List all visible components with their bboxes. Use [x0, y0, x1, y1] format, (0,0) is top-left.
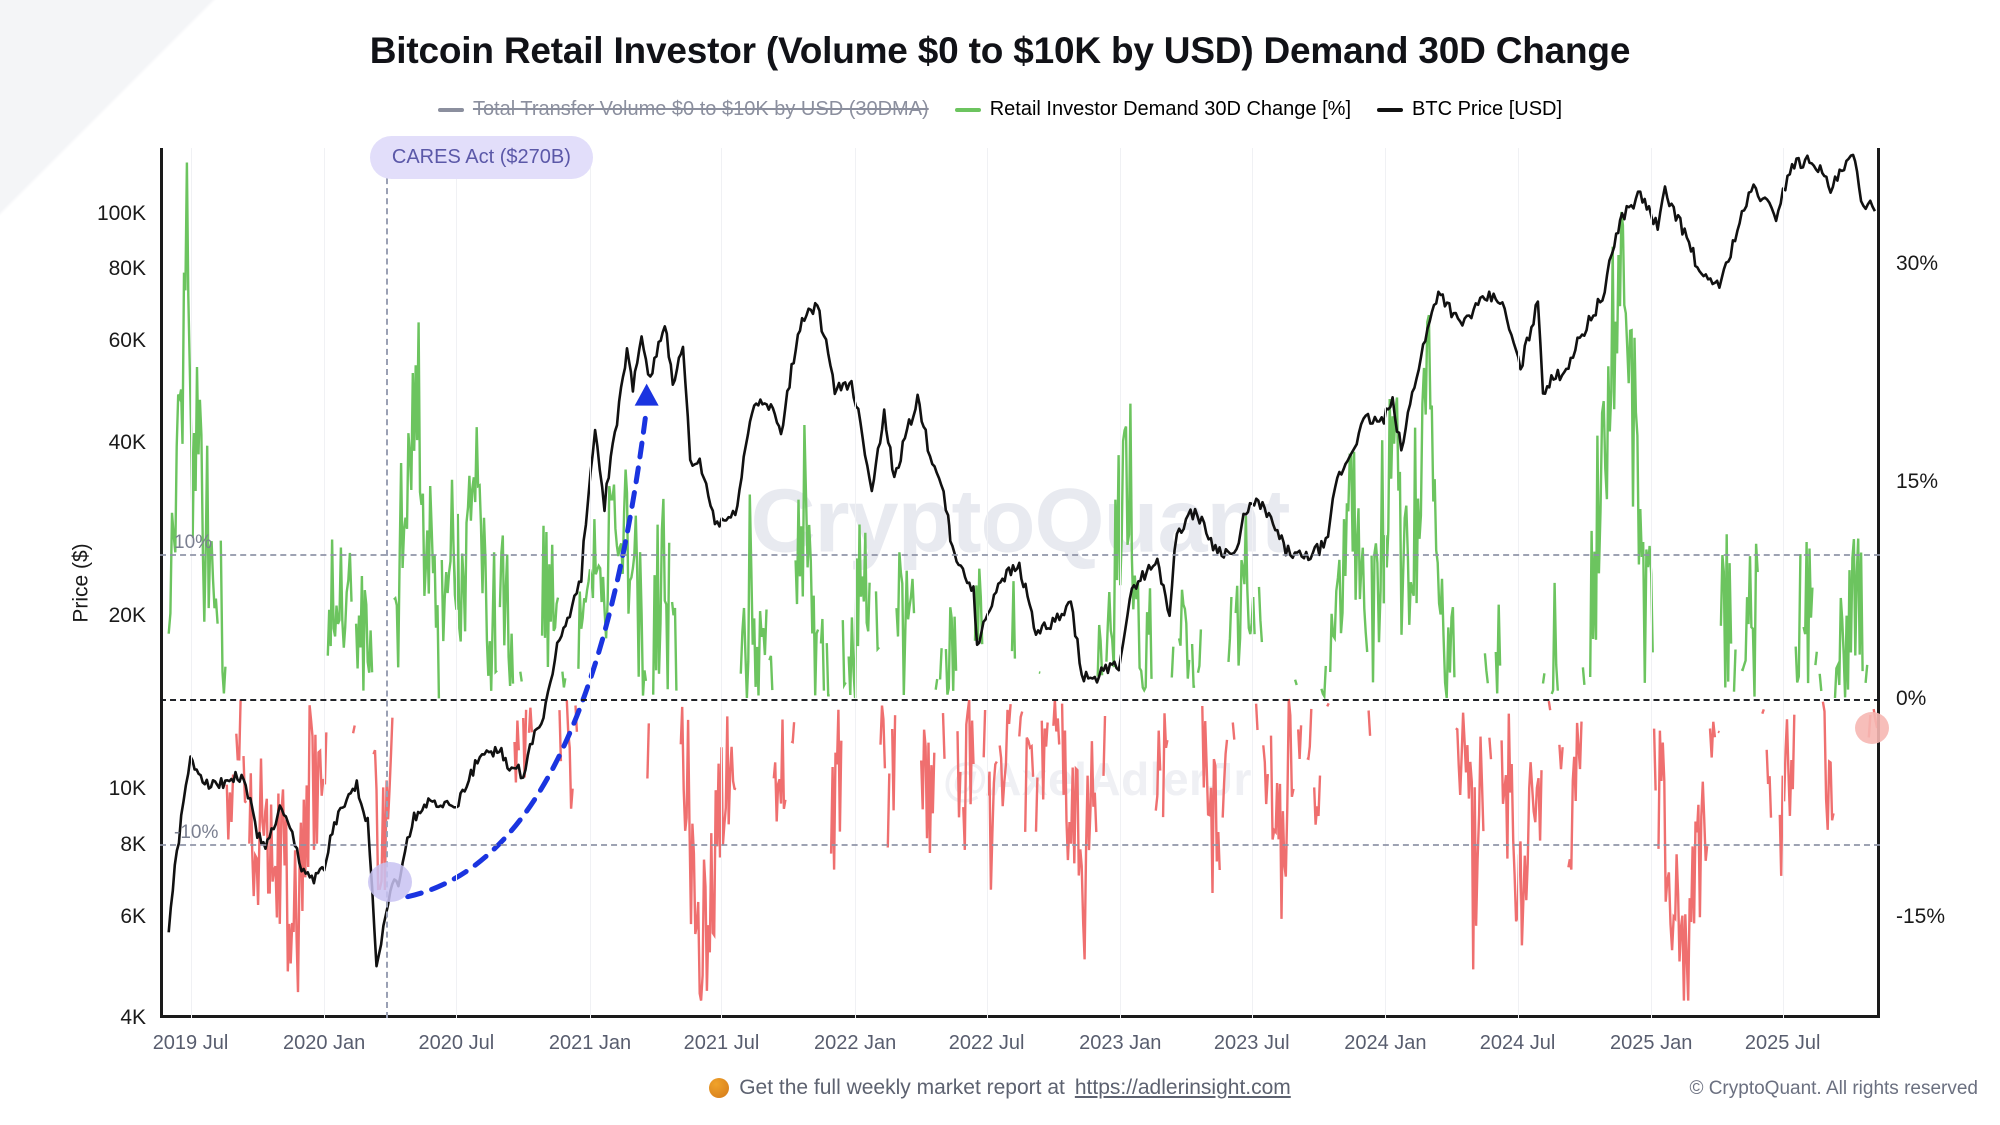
- demand-positive-segment-43: [1543, 673, 1544, 683]
- demand-negative-segment-28: [1025, 738, 1033, 832]
- x-tick-1: 2020 Jan: [283, 1032, 365, 1055]
- y-tick-right-0: 30%: [1896, 252, 1938, 276]
- demand-negative-segment-30: [1042, 721, 1048, 800]
- demand-positive-segment-2: [328, 540, 352, 656]
- y-tick-left-2: 60K: [109, 329, 146, 353]
- demand-negative-segment-1: [236, 700, 240, 760]
- demand-positive-segment-31: [1179, 590, 1189, 679]
- x-gridline-11: [1651, 148, 1652, 1018]
- trend-arrow-curve: [408, 408, 647, 897]
- y-tick-left-0: 100K: [97, 202, 146, 226]
- demand-positive-segment-12: [672, 602, 676, 691]
- right-axis-line: [1877, 148, 1880, 1018]
- demand-negative-segment-32: [1062, 704, 1096, 960]
- demand-positive-segment-30: [1172, 647, 1174, 678]
- reference-line-0: [160, 554, 1880, 556]
- demand-positive-segment-48: [1734, 650, 1736, 692]
- demand-negative-segment-44: [1314, 776, 1320, 825]
- demand-negative-segment-18: [888, 774, 890, 848]
- demand-negative-segment-38: [1233, 723, 1235, 740]
- x-gridline-0: [191, 148, 192, 1018]
- demand-negative-segment-57: [1762, 709, 1764, 713]
- demand-negative-segment-49: [1502, 714, 1542, 946]
- demand-negative-segment-0: [227, 775, 233, 840]
- demand-positive-segment-0: [169, 163, 218, 634]
- reference-line-label-2: -10%: [168, 822, 218, 844]
- x-tick-4: 2021 Jul: [684, 1032, 760, 1055]
- demand-positive-segment-16: [821, 619, 824, 691]
- footer-text: Get the full weekly market report at: [739, 1076, 1065, 1100]
- x-gridline-1: [324, 148, 325, 1018]
- demand-negative-segment-43: [1307, 709, 1311, 759]
- x-gridline-6: [987, 148, 988, 1018]
- x-gridline-10: [1518, 148, 1519, 1018]
- latest-value-dot: [1855, 712, 1889, 744]
- demand-negative-segment-37: [1223, 740, 1227, 818]
- demand-negative-segment-23: [963, 700, 973, 850]
- demand-negative-segment-50: [1549, 701, 1550, 710]
- y-tick-left-1: 80K: [109, 257, 146, 281]
- demand-negative-segment-60: [1823, 702, 1834, 830]
- demand-negative-segment-14: [774, 720, 786, 822]
- demand-negative-segment-52: [1568, 722, 1581, 870]
- demand-negative-segment-21: [943, 713, 945, 759]
- copyright-text: © CryptoQuant. All rights reserved: [1689, 1078, 1978, 1100]
- demand-negative-segment-13: [681, 707, 736, 1001]
- demand-negative-segment-19: [892, 715, 895, 810]
- legend-item-0[interactable]: Total Transfer Volume $0 to $10K by USD …: [438, 98, 929, 121]
- event-annotation-badge[interactable]: CARES Act ($270B): [370, 136, 593, 179]
- demand-positive-segment-53: [1820, 674, 1822, 691]
- demand-positive-segment-38: [1321, 666, 1325, 696]
- demand-negative-segment-12: [647, 723, 648, 778]
- demand-negative-segment-48: [1489, 738, 1491, 760]
- legend-item-2[interactable]: BTC Price [USD]: [1377, 98, 1562, 121]
- x-tick-11: 2025 Jan: [1610, 1032, 1692, 1055]
- demand-positive-segment-22: [936, 679, 938, 690]
- demand-negative-segment-17: [881, 706, 885, 769]
- legend-swatch-icon: [955, 108, 981, 112]
- trend-arrow-head: [635, 384, 659, 406]
- demand-negative-segment-22: [958, 731, 961, 817]
- x-tick-0: 2019 Jul: [153, 1032, 229, 1055]
- reference-line-1: [160, 699, 1880, 701]
- legend-label: BTC Price [USD]: [1412, 98, 1562, 121]
- legend-label: Total Transfer Volume $0 to $10K by USD …: [473, 98, 929, 121]
- x-tick-9: 2024 Jan: [1344, 1032, 1426, 1055]
- x-tick-12: 2025 Jul: [1745, 1032, 1821, 1055]
- left-axis-line: [160, 148, 163, 1018]
- demand-positive-segment-24: [946, 607, 956, 694]
- demand-negative-segment-47: [1456, 713, 1484, 970]
- demand-positive-segment-6: [500, 536, 513, 687]
- x-tick-2: 2020 Jul: [419, 1032, 495, 1055]
- demand-negative-segment-27: [1019, 712, 1022, 737]
- x-gridline-8: [1252, 148, 1253, 1018]
- y-tick-left-8: 4K: [120, 1006, 146, 1030]
- demand-positive-segment-46: [1590, 212, 1653, 683]
- demand-positive-segment-17: [827, 643, 830, 695]
- demand-negative-segment-55: [1710, 722, 1715, 758]
- legend-label: Retail Investor Demand 30D Change [%]: [990, 98, 1351, 121]
- x-gridline-4: [721, 148, 722, 1018]
- demand-negative-segment-41: [1271, 699, 1294, 919]
- orange-dot-icon: [709, 1078, 729, 1098]
- demand-negative-segment-15: [791, 722, 794, 742]
- demand-positive-segment-45: [1583, 667, 1585, 685]
- demand-positive-segment-9: [562, 672, 565, 688]
- demand-negative-segment-46: [1369, 711, 1371, 736]
- x-gridline-5: [855, 148, 856, 1018]
- demand-positive-segment-54: [1835, 539, 1863, 698]
- x-tick-3: 2021 Jan: [549, 1032, 631, 1055]
- x-tick-6: 2022 Jul: [949, 1032, 1025, 1055]
- demand-positive-segment-33: [1198, 629, 1201, 672]
- x-gridline-3: [590, 148, 591, 1018]
- chart-plot-area: CryptoQuant @AxelAdlerJr Price ($) 100K8…: [160, 148, 1880, 1018]
- demand-negative-segment-10: [567, 700, 573, 809]
- x-tick-7: 2023 Jan: [1079, 1032, 1161, 1055]
- x-tick-5: 2022 Jan: [814, 1032, 896, 1055]
- demand-negative-segment-33: [1104, 716, 1106, 776]
- demand-negative-segment-31: [1053, 700, 1059, 745]
- demand-negative-segment-42: [1298, 725, 1301, 759]
- demand-negative-segment-3: [249, 705, 326, 992]
- legend-item-1[interactable]: Retail Investor Demand 30D Change [%]: [955, 98, 1351, 121]
- bottom-axis-line: [160, 1015, 1880, 1018]
- demand-negative-segment-39: [1256, 704, 1257, 730]
- demand-positive-segment-26: [1012, 581, 1015, 659]
- demand-positive-segment-40: [1372, 315, 1455, 698]
- x-gridline-2: [456, 148, 457, 1018]
- demand-positive-segment-44: [1552, 583, 1558, 694]
- demand-negative-segment-20: [921, 730, 934, 853]
- x-gridline-12: [1783, 148, 1784, 1018]
- x-tick-8: 2023 Jul: [1214, 1032, 1290, 1055]
- demand-positive-segment-1: [221, 541, 226, 694]
- demand-positive-segment-55: [1866, 665, 1868, 683]
- event-highlight-dot: [368, 862, 412, 902]
- demand-negative-segment-26: [1000, 704, 1011, 806]
- demand-positive-segment-34: [1229, 597, 1232, 662]
- demand-positive-segment-50: [1796, 554, 1801, 682]
- x-gridline-9: [1385, 148, 1386, 1018]
- x-tick-10: 2024 Jul: [1480, 1032, 1556, 1055]
- demand-positive-segment-11: [653, 499, 669, 695]
- demand-negative-segment-9: [560, 710, 561, 761]
- demand-negative-segment-34: [1156, 731, 1160, 811]
- y-tick-left-5: 10K: [109, 777, 146, 801]
- demand-negative-segment-36: [1202, 706, 1219, 893]
- demand-positive-segment-7: [520, 672, 521, 682]
- demand-negative-segment-58: [1767, 750, 1771, 818]
- demand-positive-segment-32: [1192, 644, 1195, 687]
- demand-negative-segment-29: [1036, 778, 1037, 832]
- demand-positive-segment-20: [876, 591, 879, 649]
- y-tick-right-1: 15%: [1896, 470, 1938, 494]
- demand-positive-segment-23: [940, 648, 942, 679]
- legend-swatch-icon: [1377, 108, 1403, 112]
- demand-negative-segment-51: [1559, 745, 1562, 769]
- demand-positive-segment-3: [356, 576, 372, 691]
- y-tick-left-4: 20K: [109, 604, 146, 628]
- page-title: Bitcoin Retail Investor (Volume $0 to $1…: [0, 30, 2000, 72]
- demand-positive-segment-21: [897, 552, 915, 695]
- y-tick-right-2: 0%: [1896, 687, 1926, 711]
- demand-negative-segment-6: [515, 721, 519, 783]
- demand-positive-segment-19: [849, 525, 870, 699]
- demand-positive-segment-41: [1485, 653, 1488, 683]
- demand-negative-segment-8: [529, 708, 532, 733]
- reference-line-label-0: 10%: [168, 532, 212, 554]
- demand-positive-segment-14: [769, 656, 772, 690]
- y-tick-left-6: 8K: [120, 833, 146, 857]
- demand-positive-segment-5: [442, 427, 497, 691]
- demand-positive-segment-49: [1741, 544, 1757, 697]
- x-gridline-7: [1120, 148, 1121, 1018]
- demand-negative-segment-24: [984, 710, 985, 757]
- reference-line-2: [160, 844, 1880, 846]
- demand-negative-segment-56: [1718, 732, 1720, 733]
- demand-negative-segment-53: [1654, 729, 1656, 791]
- demand-positive-segment-52: [1815, 652, 1816, 665]
- demand-positive-segment-18: [843, 620, 846, 685]
- demand-positive-segment-29: [1106, 404, 1151, 691]
- y-axis-title: Price ($): [70, 543, 94, 622]
- legend-swatch-icon: [438, 108, 464, 112]
- demand-positive-segment-15: [796, 425, 819, 695]
- demand-positive-segment-47: [1721, 534, 1731, 687]
- series-canvas: [160, 148, 1880, 1018]
- demand-positive-segment-36: [1259, 587, 1262, 642]
- demand-negative-segment-54: [1659, 731, 1708, 1001]
- y-tick-left-7: 6K: [120, 905, 146, 929]
- demand-negative-segment-45: [1327, 703, 1329, 706]
- y-tick-left-3: 40K: [109, 431, 146, 455]
- adlerinsight-link[interactable]: https://adlerinsight.com: [1075, 1076, 1291, 1100]
- demand-positive-segment-51: [1804, 542, 1813, 683]
- demand-negative-segment-4: [353, 726, 355, 734]
- demand-positive-segment-37: [1295, 680, 1297, 685]
- demand-positive-segment-13: [741, 495, 767, 699]
- demand-negative-segment-35: [1163, 713, 1167, 817]
- y-tick-right-3: -15%: [1896, 905, 1945, 929]
- demand-positive-segment-42: [1496, 605, 1500, 694]
- demand-positive-segment-4: [394, 322, 439, 698]
- demand-negative-segment-25: [988, 762, 997, 890]
- chart-legend: Total Transfer Volume $0 to $10K by USD …: [0, 98, 2000, 121]
- demand-negative-segment-40: [1263, 745, 1268, 804]
